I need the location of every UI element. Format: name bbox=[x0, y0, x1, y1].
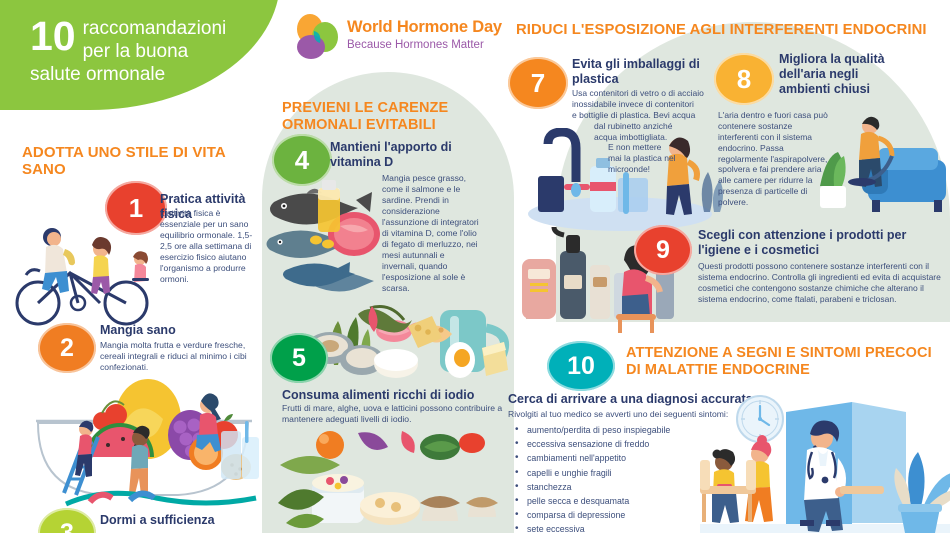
item-body-7-line-1: Usa contenitori di vetro o di acciaio bbox=[572, 88, 716, 99]
item-body-7-line-8: microonde! bbox=[572, 164, 716, 175]
section-title-bottom: ATTENZIONE A SEGNI E SINTOMI PRECOCI DI … bbox=[626, 345, 946, 378]
hero-line-3: salute ormonale bbox=[30, 64, 275, 86]
list-item: sete eccessiva bbox=[514, 524, 729, 533]
world-hormone-day-logo[interactable]: World Hormone Day Because Hormones Matte… bbox=[289, 14, 504, 66]
hero-text-block: 10 raccomandazioni per la buona salute o… bbox=[30, 18, 275, 86]
doctor-waiting-room-clock-illustration bbox=[700, 400, 950, 533]
list-item: eccessiva sensazione di freddo bbox=[514, 439, 729, 449]
item-body-2: Mangia molta frutta e verdure fresche, c… bbox=[100, 340, 260, 373]
item-body-9: Questi prodotti possono contenere sostan… bbox=[698, 261, 946, 305]
list-item: capelli e unghie fragili bbox=[514, 468, 729, 478]
badge-number-5: 5 bbox=[270, 333, 328, 383]
logo-tagline: Because Hormones Matter bbox=[347, 39, 484, 51]
item-title-5: Consuma alimenti ricchi di iodio bbox=[282, 388, 512, 403]
item-title-4: Mantieni l'apporto di vitamina D bbox=[330, 140, 460, 170]
list-item: stanchezza bbox=[514, 482, 729, 492]
item-body-7-line-6: E non mettere bbox=[572, 142, 716, 153]
item-body-7-line-5: acqua imbottigliata. bbox=[572, 132, 716, 143]
badge-number-10: 10 bbox=[547, 341, 615, 391]
list-item: pelle secca e desquamata bbox=[514, 496, 729, 506]
hero-number: 10 bbox=[30, 16, 76, 57]
item-title-2: Mangia sano bbox=[100, 323, 260, 338]
fish-and-supplement-oil-illustration bbox=[266, 178, 401, 298]
logo-name: World Hormone Day bbox=[347, 18, 502, 37]
badge-number-2: 2 bbox=[38, 323, 96, 373]
badge-number-7: 7 bbox=[508, 57, 568, 109]
badge-number-4: 4 bbox=[272, 134, 332, 186]
section-title-center-text: PREVIENI LE CARENZE ORMONALI EVITABILI bbox=[282, 100, 448, 133]
item-body-7-line-3: e bottiglie di plastica. Bevi acqua bbox=[572, 110, 716, 121]
egg-cluster-logo-icon bbox=[289, 14, 345, 64]
item-body-7-line-2: inossidabile invece di contenitori bbox=[572, 99, 716, 110]
item-body-8: L'aria dentro e fuori casa può contenere… bbox=[718, 110, 828, 208]
infographic-canvas: 10 raccomandazioni per la buona salute o… bbox=[0, 0, 950, 533]
list-item: cambiamenti nell'appetito bbox=[514, 453, 729, 463]
section-title-center: PREVIENI LE CARENZE ORMONALI EVITABILI bbox=[282, 100, 512, 133]
item-title-9: Scegli con attenzione i prodotti per l'i… bbox=[698, 228, 928, 258]
list-item: aumento/perdita di peso inspiegabile bbox=[514, 425, 729, 435]
item-body-5: Frutti di mare, alghe, uova e latticini … bbox=[282, 403, 510, 425]
item-body-7-line-7: mai la plastica nel bbox=[572, 153, 716, 164]
badge-number-9: 9 bbox=[634, 225, 692, 275]
man-vacuuming-living-room-illustration bbox=[812, 112, 947, 227]
seafood-eggs-dairy-illustration bbox=[300, 302, 515, 387]
badge-number-1: 1 bbox=[105, 181, 167, 235]
item-title-3: Dormi a sufficienza bbox=[100, 513, 260, 528]
list-item: comparsa di depressione bbox=[514, 510, 729, 520]
item-body-7-line-4: dal rubinetto anziché bbox=[572, 121, 716, 132]
section-title-right: RIDUCI L'ESPOSIZIONE AGLI INTERFERENTI E… bbox=[516, 22, 946, 39]
vegetables-bowl-illustration bbox=[272, 425, 512, 533]
item-body-7: Usa contenitori di vetro o di acciaio in… bbox=[572, 88, 716, 175]
symptom-list: aumento/perdita di peso inspiegabile ecc… bbox=[514, 425, 729, 533]
item-title-8: Migliora la qualità dell'aria negli ambi… bbox=[779, 52, 909, 96]
item-body-1: L'attività fisica è essenziale per un sa… bbox=[160, 208, 255, 285]
badge-number-8: 8 bbox=[714, 53, 774, 105]
item-title-7: Evita gli imballaggi di plastica bbox=[572, 57, 712, 87]
item-body-4: Mangia pesce grasso, come il salmone e l… bbox=[382, 173, 480, 294]
section-title-left: ADOTTA UNO STILE DI VITA SANO bbox=[22, 144, 272, 179]
badge-number-3: 3 bbox=[38, 508, 96, 533]
sleeping-person-illustration bbox=[60, 488, 260, 510]
